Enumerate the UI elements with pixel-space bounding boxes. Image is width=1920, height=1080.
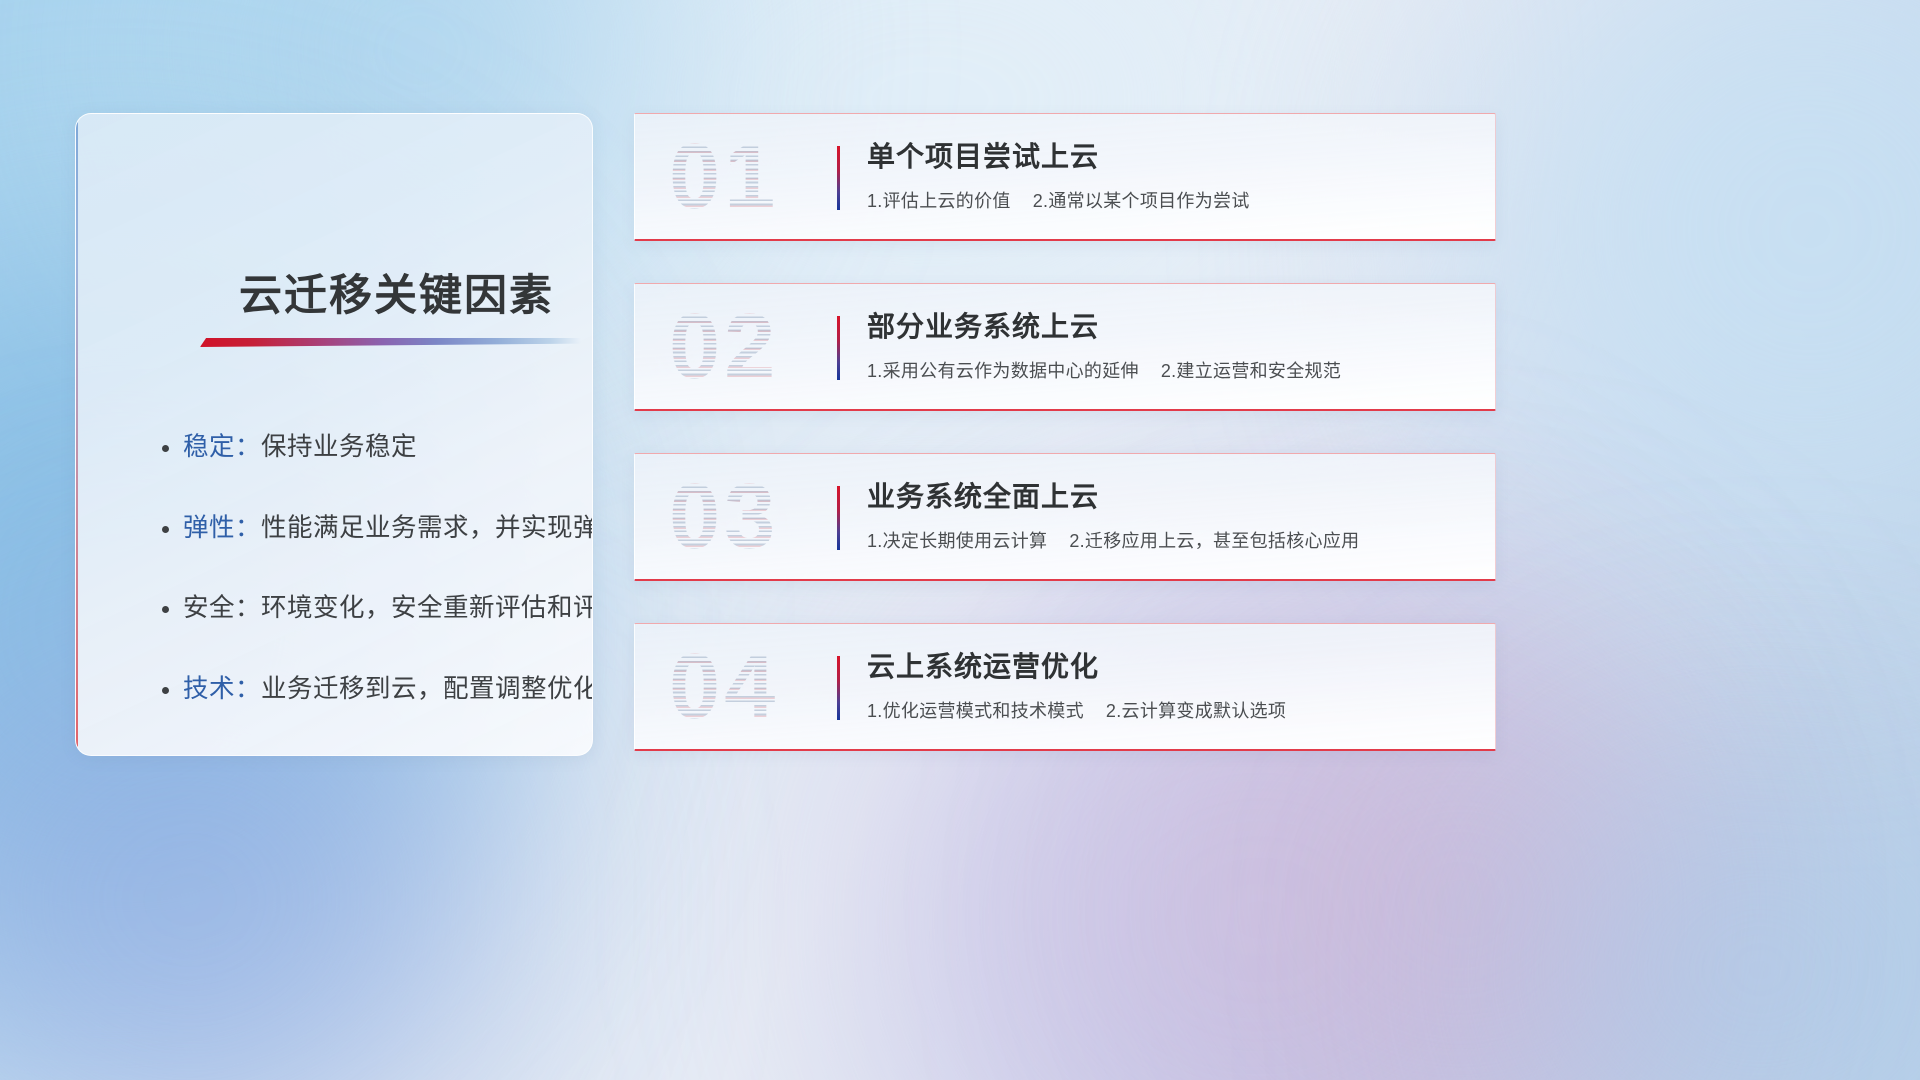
stage-number-glyph-tint: 03 bbox=[669, 464, 779, 569]
stage-accent-bar bbox=[837, 486, 840, 550]
key-factor-item: 技术：业务迁移到云，配置调整优化 bbox=[183, 674, 593, 705]
stage-card-body: 部分业务系统上云1.采用公有云作为数据中心的延伸2.建立运营和安全规范 bbox=[867, 310, 1471, 383]
stage-card-description: 1.评估上云的价值2.通常以某个项目作为尝试 bbox=[867, 187, 1471, 213]
key-factor-value: 性能满足业务需求，并实现弹性 bbox=[261, 514, 593, 542]
key-factor-label: 安全： bbox=[183, 594, 261, 622]
key-factor-label: 组织和人： bbox=[183, 755, 313, 756]
stage-card-point: 1.采用公有云作为数据中心的延伸 bbox=[867, 361, 1139, 381]
key-factor-item: 组织和人：组织架构调整，流程优化， bbox=[183, 754, 593, 756]
key-factors-list: 稳定：保持业务稳定弹性：性能满足业务需求，并实现弹性安全：环境变化，安全重新评估… bbox=[183, 432, 593, 756]
stage-card-description: 1.采用公有云作为数据中心的延伸2.建立运营和安全规范 bbox=[867, 357, 1471, 383]
stage-number-glyph-tint: 01 bbox=[669, 124, 779, 229]
stage-card-point: 2.迁移应用上云，甚至包括核心应用 bbox=[1069, 531, 1359, 551]
key-factors-panel: 云迁移关键因素 稳定：保持业务稳定弹性：性能满足业务需求，并实现弹性安全：环境变… bbox=[75, 113, 593, 756]
stage-number-glyph-tint: 04 bbox=[669, 634, 779, 739]
stage-accent-bar bbox=[837, 146, 840, 210]
migration-stage-cards: 0101单个项目尝试上云1.评估上云的价值2.通常以某个项目作为尝试0202部分… bbox=[634, 113, 1496, 751]
title-underline-accent bbox=[200, 338, 581, 347]
stage-card-description: 1.决定长期使用云计算2.迁移应用上云，甚至包括核心应用 bbox=[867, 527, 1471, 553]
stage-card[interactable]: 0404云上系统运营优化1.优化运营模式和技术模式2.云计算变成默认选项 bbox=[634, 623, 1496, 751]
stage-card-body: 业务系统全面上云1.决定长期使用云计算2.迁移应用上云，甚至包括核心应用 bbox=[867, 480, 1471, 553]
key-factor-item: 弹性：性能满足业务需求，并实现弹性 bbox=[183, 513, 593, 544]
key-factor-label: 弹性： bbox=[183, 514, 261, 542]
key-factor-value: 环境变化，安全重新评估和评审 bbox=[261, 594, 593, 622]
key-factor-label: 技术： bbox=[183, 675, 261, 703]
stage-card-title: 云上系统运营优化 bbox=[867, 650, 1471, 684]
stage-card-point: 1.评估上云的价值 bbox=[867, 191, 1011, 211]
stage-card-body: 单个项目尝试上云1.评估上云的价值2.通常以某个项目作为尝试 bbox=[867, 140, 1471, 213]
stage-card-point: 1.优化运营模式和技术模式 bbox=[867, 701, 1084, 721]
stage-card[interactable]: 0101单个项目尝试上云1.评估上云的价值2.通常以某个项目作为尝试 bbox=[634, 113, 1496, 241]
stage-accent-bar bbox=[837, 316, 840, 380]
stage-card-title: 单个项目尝试上云 bbox=[867, 140, 1471, 174]
stage-card-description: 1.优化运营模式和技术模式2.云计算变成默认选项 bbox=[867, 697, 1471, 723]
stage-card-title: 业务系统全面上云 bbox=[867, 480, 1471, 514]
stage-card-point: 2.建立运营和安全规范 bbox=[1161, 361, 1341, 381]
key-factor-label: 稳定： bbox=[183, 433, 261, 461]
key-factor-value: 组织架构调整，流程优化， bbox=[313, 755, 593, 756]
key-factor-value: 业务迁移到云，配置调整优化 bbox=[261, 675, 593, 703]
stage-card-point: 1.决定长期使用云计算 bbox=[867, 531, 1047, 551]
slide-stage: 云迁移关键因素 稳定：保持业务稳定弹性：性能满足业务需求，并实现弹性安全：环境变… bbox=[0, 0, 1920, 1080]
stage-card[interactable]: 0303业务系统全面上云1.决定长期使用云计算2.迁移应用上云，甚至包括核心应用 bbox=[634, 453, 1496, 581]
page-title: 云迁移关键因素 bbox=[239, 261, 554, 323]
stage-card-point: 2.云计算变成默认选项 bbox=[1106, 701, 1286, 721]
stage-accent-bar bbox=[837, 656, 840, 720]
stage-card[interactable]: 0202部分业务系统上云1.采用公有云作为数据中心的延伸2.建立运营和安全规范 bbox=[634, 283, 1496, 411]
stage-card-body: 云上系统运营优化1.优化运营模式和技术模式2.云计算变成默认选项 bbox=[867, 650, 1471, 723]
stage-card-title: 部分业务系统上云 bbox=[867, 310, 1471, 344]
stage-number-glyph-tint: 02 bbox=[669, 294, 779, 399]
stage-card-point: 2.通常以某个项目作为尝试 bbox=[1033, 191, 1250, 211]
key-factor-item: 稳定：保持业务稳定 bbox=[183, 432, 593, 463]
key-factor-item: 安全：环境变化，安全重新评估和评审 bbox=[183, 593, 593, 624]
key-factor-value: 保持业务稳定 bbox=[261, 433, 417, 461]
